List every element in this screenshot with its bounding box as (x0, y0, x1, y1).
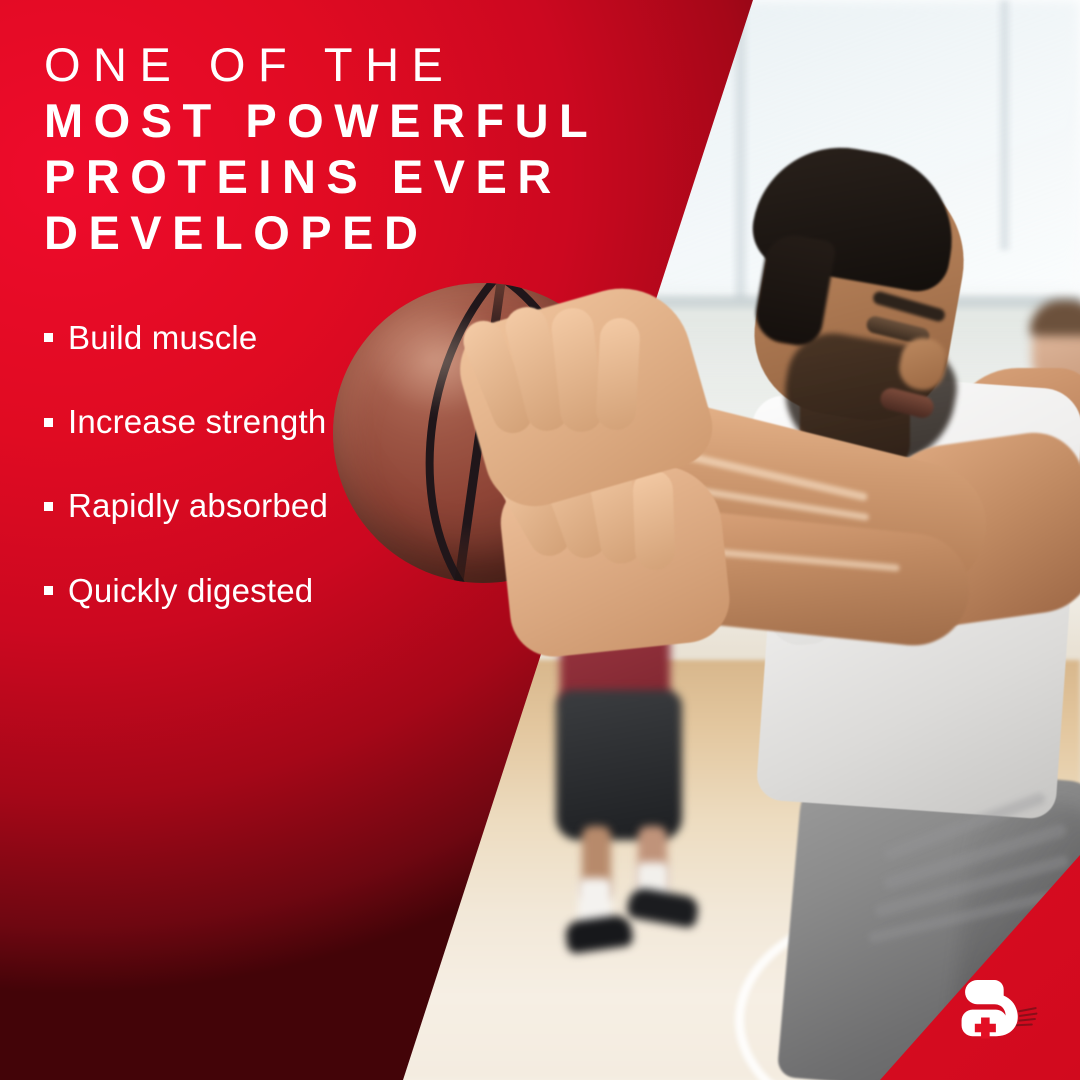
list-item: Rapidly absorbed (44, 488, 724, 524)
brand-logo (960, 966, 1038, 1044)
benefit-label: Increase strength (68, 404, 326, 440)
benefit-label: Quickly digested (68, 573, 313, 609)
bullet-square-icon (44, 586, 53, 595)
list-item: Increase strength (44, 404, 724, 440)
benefits-list: Build muscle Increase strength Rapidly a… (44, 320, 724, 609)
headline-line-1: MOST POWERFUL (44, 93, 724, 149)
headline-line-3: DEVELOPED (44, 205, 724, 261)
promo-banner: ONE OF THE MOST POWERFUL PROTEINS EVER D… (0, 0, 1080, 1080)
bullet-square-icon (44, 418, 53, 427)
benefit-label: Rapidly absorbed (68, 488, 328, 524)
list-item: Quickly digested (44, 573, 724, 609)
headline-line-2: PROTEINS EVER (44, 149, 724, 205)
headline-kicker: ONE OF THE (44, 38, 724, 93)
copy-block: ONE OF THE MOST POWERFUL PROTEINS EVER D… (44, 38, 724, 657)
headline: ONE OF THE MOST POWERFUL PROTEINS EVER D… (44, 38, 724, 262)
bullet-square-icon (44, 333, 53, 342)
benefit-label: Build muscle (68, 320, 257, 356)
list-item: Build muscle (44, 320, 724, 356)
flexed-bicep-medical-cross-icon (960, 966, 1038, 1044)
bullet-square-icon (44, 502, 53, 511)
